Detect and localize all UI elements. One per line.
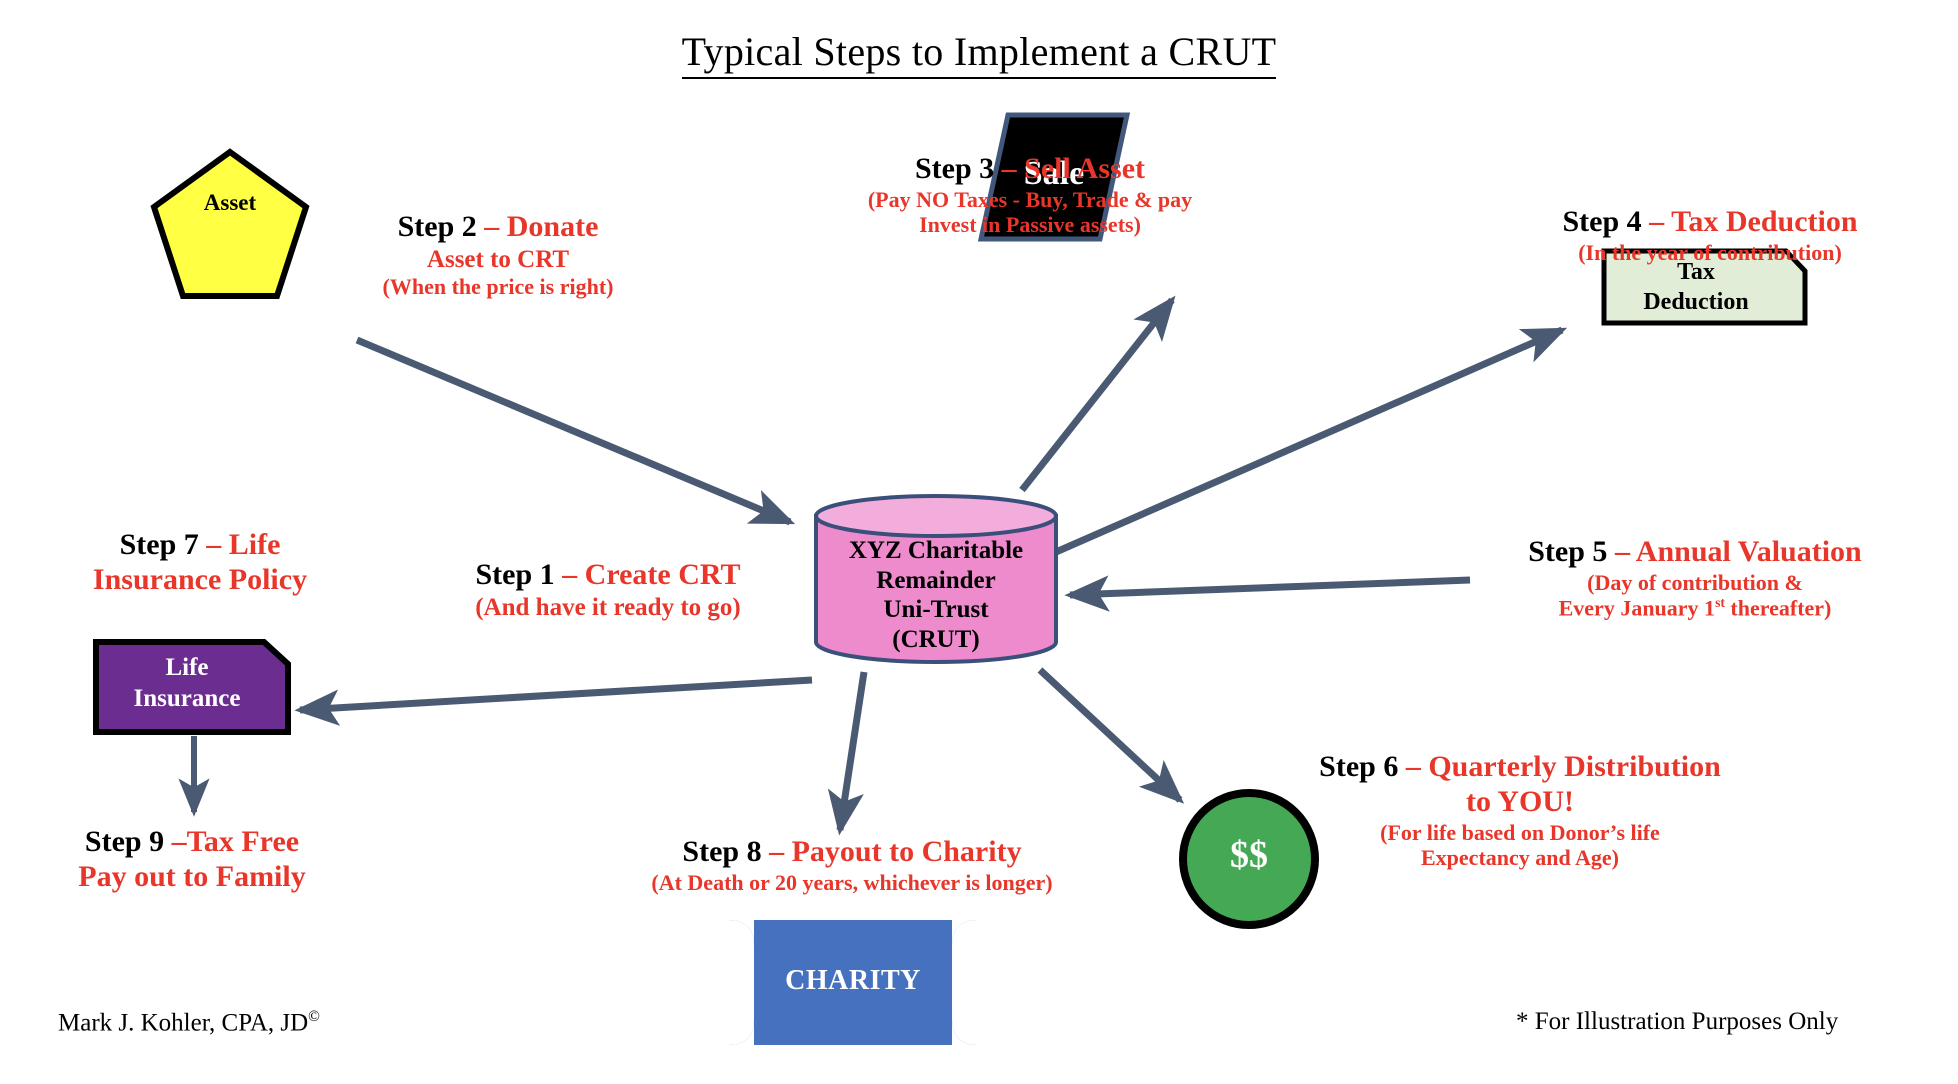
step-5-header: Step 5 – Annual Valuation [1470,535,1920,570]
step-6-sub2: (For life based on Donor’s life [1270,820,1770,846]
step-1-name: – Create CRT [562,558,740,591]
step-4-sub: (In the year of contribution) [1520,240,1900,266]
arrow-crut-to-money [1040,670,1180,800]
arrow-crut-to-sale [1022,300,1172,490]
step-5-name: – Annual Valuation [1615,535,1862,568]
step-3-name: – Sell Asset [1002,152,1145,185]
step-3-sub: (Pay NO Taxes - Buy, Trade & pay [820,187,1240,213]
asset-label: Asset [150,190,310,216]
crut-line1: XYZ Charitable [812,536,1060,566]
step-6-sub: to YOU! [1270,785,1770,820]
life-insurance-line2: Insurance [92,684,282,715]
step-8-header: Step 8 – Payout to Charity [572,835,1132,870]
step-1-number: Step 1 [475,558,562,591]
step-2-number: Step 2 [398,210,485,243]
arrow-crut-to-life-insurance [300,680,812,710]
step-6-header: Step 6 – Quarterly Distribution [1270,750,1770,785]
crut-line4: (CRUT) [812,625,1060,655]
step-3-label: Step 3 – Sell Asset (Pay NO Taxes - Buy,… [820,152,1240,238]
step-5-label: Step 5 – Annual Valuation (Day of contri… [1470,535,1920,621]
step-2-label: Step 2 – Donate Asset to CRT (When the p… [338,210,658,299]
step-4-header: Step 4 – Tax Deduction [1520,205,1900,240]
life-insurance-line1: Life [92,653,282,684]
step-2-name: – Donate [484,210,598,243]
author-credit: Mark J. Kohler, CPA, JD© [58,1008,320,1037]
step-6-sub3: Expectancy and Age) [1270,845,1770,871]
step-4-number: Step 4 [1562,205,1649,238]
step-9-label: Step 9 –Tax Free Pay out to Family [42,825,342,895]
step-1-header: Step 1 – Create CRT [438,558,778,593]
step-7-sub: Insurance Policy [55,563,345,598]
step-5-number: Step 5 [1528,535,1615,568]
step-2-sub2: (When the price is right) [338,274,658,300]
step-1-label: Step 1 – Create CRT (And have it ready t… [438,558,778,622]
crut-label: XYZ Charitable Remainder Uni-Trust (CRUT… [812,536,1060,654]
step-8-name: – Payout to Charity [769,835,1021,868]
step-8-label: Step 8 – Payout to Charity (At Death or … [572,835,1132,895]
crut-line2: Remainder [812,566,1060,596]
step-5-sub: (Day of contribution & [1470,570,1920,596]
charity-label: CHARITY [728,965,978,997]
step-1-sub: (And have it ready to go) [438,593,778,622]
step-2-sub: Asset to CRT [338,245,658,274]
arrow-crut-to-tax-deduction [1056,330,1562,552]
step-9-number: Step 9 [85,825,172,858]
arrow-asset-to-crut [357,340,790,522]
step-7-label: Step 7 – Life Insurance Policy [55,528,345,598]
step-4-label: Step 4 – Tax Deduction (In the year of c… [1520,205,1900,265]
step-3-header: Step 3 – Sell Asset [820,152,1240,187]
step-7-header: Step 7 – Life [55,528,345,563]
step-6-number: Step 6 [1319,750,1406,783]
copyright-icon: © [308,1008,320,1025]
page-title-text: Typical Steps to Implement a CRUT [682,29,1277,79]
crut-line3: Uni-Trust [812,595,1060,625]
step-9-name: –Tax Free [172,825,300,858]
step-3-sub2: Invest in Passive assets) [820,212,1240,238]
step-6-name: – Quarterly Distribution [1406,750,1721,783]
step-8-sub: (At Death or 20 years, whichever is long… [572,870,1132,896]
step-3-number: Step 3 [915,152,1002,185]
tax-deduction-label: Tax Deduction [1590,257,1802,317]
author-credit-text: Mark J. Kohler, CPA, JD [58,1009,308,1036]
arrow-valuation-to-crut [1070,580,1470,595]
step-7-name: – Life [206,528,280,561]
life-insurance-label: Life Insurance [92,653,282,714]
page-title: Typical Steps to Implement a CRUT [0,28,1958,75]
step-6-label: Step 6 – Quarterly Distribution to YOU! … [1270,750,1770,871]
tax-deduction-line2: Deduction [1590,287,1802,317]
diagram-canvas: Typical Steps to Implement a CRUT Asset [0,0,1958,1084]
arrow-crut-to-charity [840,672,864,830]
disclaimer-note: * For Illustration Purposes Only [1516,1008,1838,1036]
step-4-name: – Tax Deduction [1649,205,1857,238]
step-9-sub: Pay out to Family [42,860,342,895]
step-8-number: Step 8 [682,835,769,868]
step-9-header: Step 9 –Tax Free [42,825,342,860]
step-2-header: Step 2 – Donate [338,210,658,245]
asset-pentagon-shape [150,148,310,300]
step-7-number: Step 7 [120,528,207,561]
step-5-sub2: Every January 1st thereafter) [1470,595,1920,621]
